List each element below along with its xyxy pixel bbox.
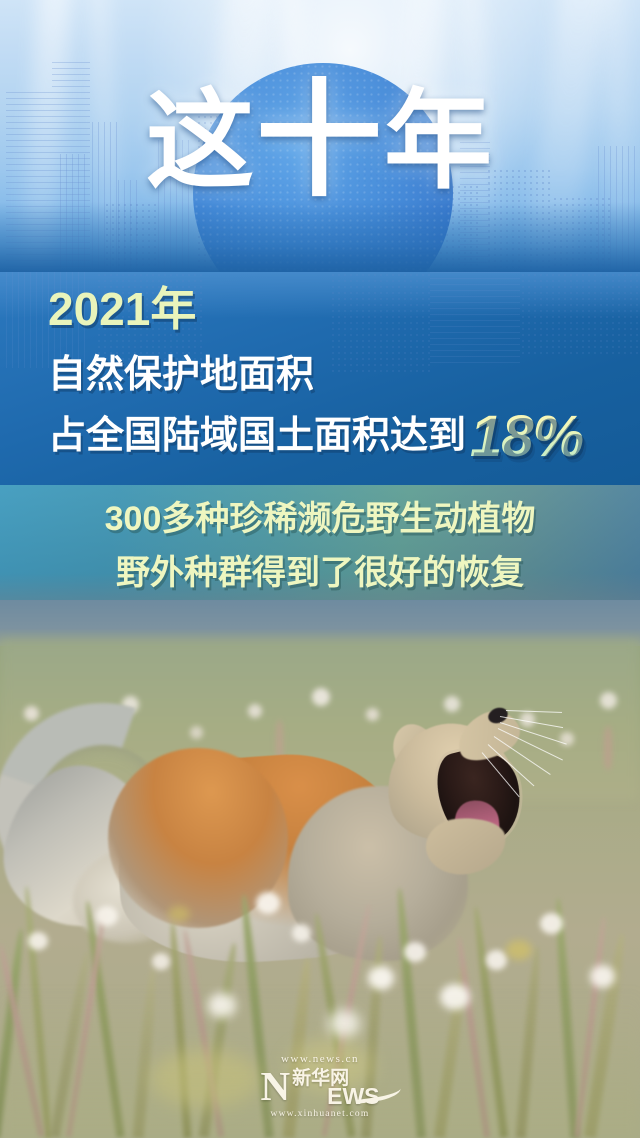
note-line-1: 300多种珍稀濒危野生动植物 [0,502,640,536]
texture-dot-grid [330,272,430,372]
title-char-nian: 年 [384,79,494,204]
header-bottom-fade [0,202,640,272]
xinhua-watermark: www.news.cn N 新华网 EWS www.xinhuanet.com [225,1053,415,1119]
watermark-logo-letter: N [260,1068,290,1105]
header-banner: 这十年 [0,0,640,272]
fox-figure [0,696,528,996]
stat-line-2: 占全国陆域国土面积达到18% [48,408,583,466]
title-char-zhe: 这 [146,79,256,204]
texture-dot-grid [520,272,640,358]
stat-line-2-text: 占全国陆域国土面积达到 [48,415,466,457]
title-char-shi: 十 [256,67,384,214]
page-title: 这十年 [0,78,640,204]
white-flower-icon [540,913,563,934]
watermark-logo: N 新华网 EWS [225,1066,415,1107]
stat-year-label: 2021年 [48,286,196,332]
stat-percent-value: 18% [470,408,583,466]
watermark-bottom-url: www.xinhuanet.com [225,1109,415,1119]
note-line-2: 野外种群得到了很好的恢复 [0,556,640,590]
texture-horizontal-lines [430,272,520,364]
white-flower-icon [590,965,615,988]
watermark-top-url: www.news.cn [225,1053,415,1065]
poster-root: 这十年 2021年 自然保护地面积 占全国陆域国土面积达到18% 300多种珍稀… [0,0,640,1138]
stat-line-1: 自然保护地面积 [48,356,314,394]
